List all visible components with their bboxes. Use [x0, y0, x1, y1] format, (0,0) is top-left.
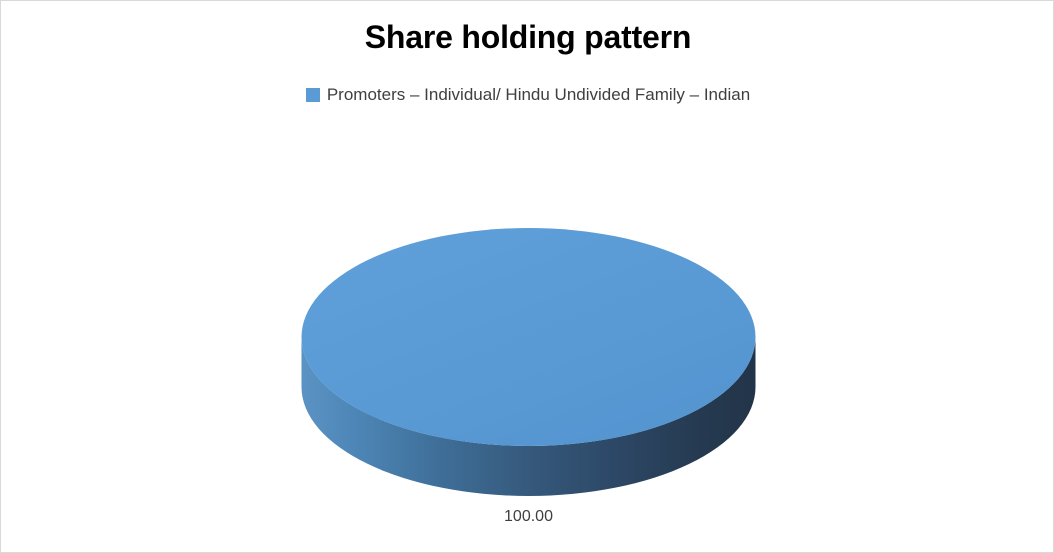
pie-chart-container: Share holding pattern Promoters – Indivi… [0, 0, 1054, 553]
pie-slice-promoters[interactable] [302, 228, 756, 446]
pie-plot-area [1, 1, 1054, 553]
pie-data-label: 100.00 [1, 508, 1054, 526]
pie-3d-graphic [1, 1, 1054, 553]
